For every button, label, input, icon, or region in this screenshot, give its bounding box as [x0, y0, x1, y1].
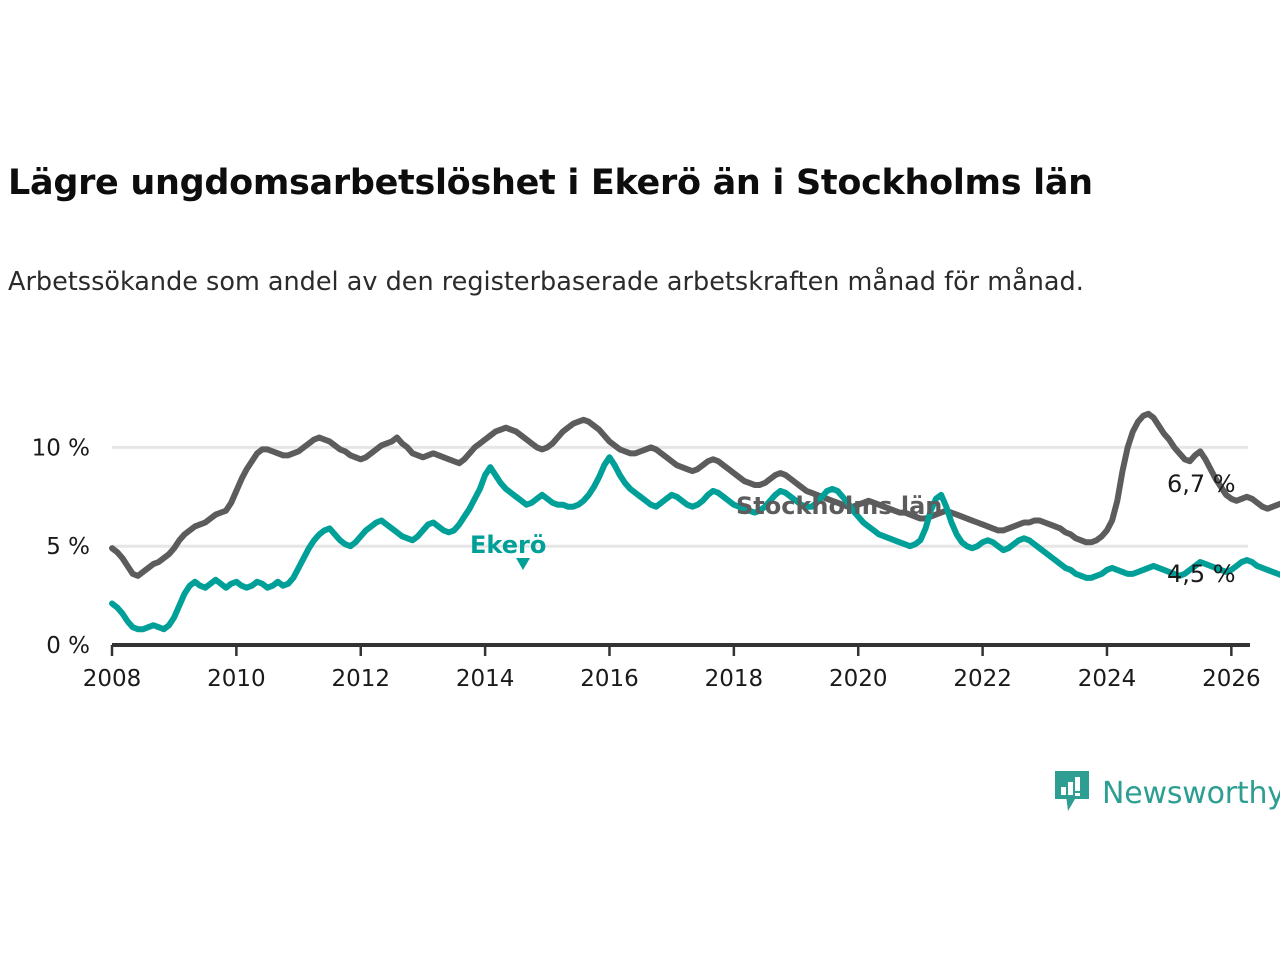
newsworthy-brand[interactable]: Newsworthy: [1053, 769, 1280, 817]
brand-name: Newsworthy: [1102, 776, 1280, 811]
series-label-ekero: Ekerö: [470, 531, 546, 559]
y-axis-tick-labels: 0 %5 %10 %: [32, 435, 90, 659]
y-tick-label: 10 %: [32, 435, 90, 461]
x-tick-label: 2022: [953, 666, 1012, 692]
x-axis-tick-labels: 2008201020122014201620182020202220242026: [83, 645, 1261, 692]
stockholm-end-value: 6,7 %: [1167, 470, 1236, 498]
x-tick-label: 2024: [1078, 666, 1137, 692]
x-tick-label: 2014: [456, 666, 515, 692]
ekero-end-value: 4,5 %: [1167, 560, 1236, 588]
series-line: [112, 414, 1280, 576]
x-tick-label: 2008: [83, 666, 142, 692]
x-tick-label: 2020: [829, 666, 888, 692]
x-tick-label: 2026: [1202, 666, 1261, 692]
ekero-label-pointer: [516, 558, 530, 570]
x-tick-label: 2010: [207, 666, 266, 692]
bar-chart-speech-bubble-icon: [1053, 769, 1091, 817]
series-line: [112, 457, 1280, 629]
x-tick-label: 2018: [705, 666, 764, 692]
x-tick-label: 2012: [331, 666, 390, 692]
series-label-stockholm: Stockholms län: [736, 492, 942, 520]
chart-page: Lägre ungdomsarbetslöshet i Ekerö än i S…: [0, 0, 1280, 960]
x-tick-label: 2016: [580, 666, 639, 692]
y-tick-label: 0 %: [46, 633, 90, 659]
y-tick-label: 5 %: [46, 534, 90, 560]
